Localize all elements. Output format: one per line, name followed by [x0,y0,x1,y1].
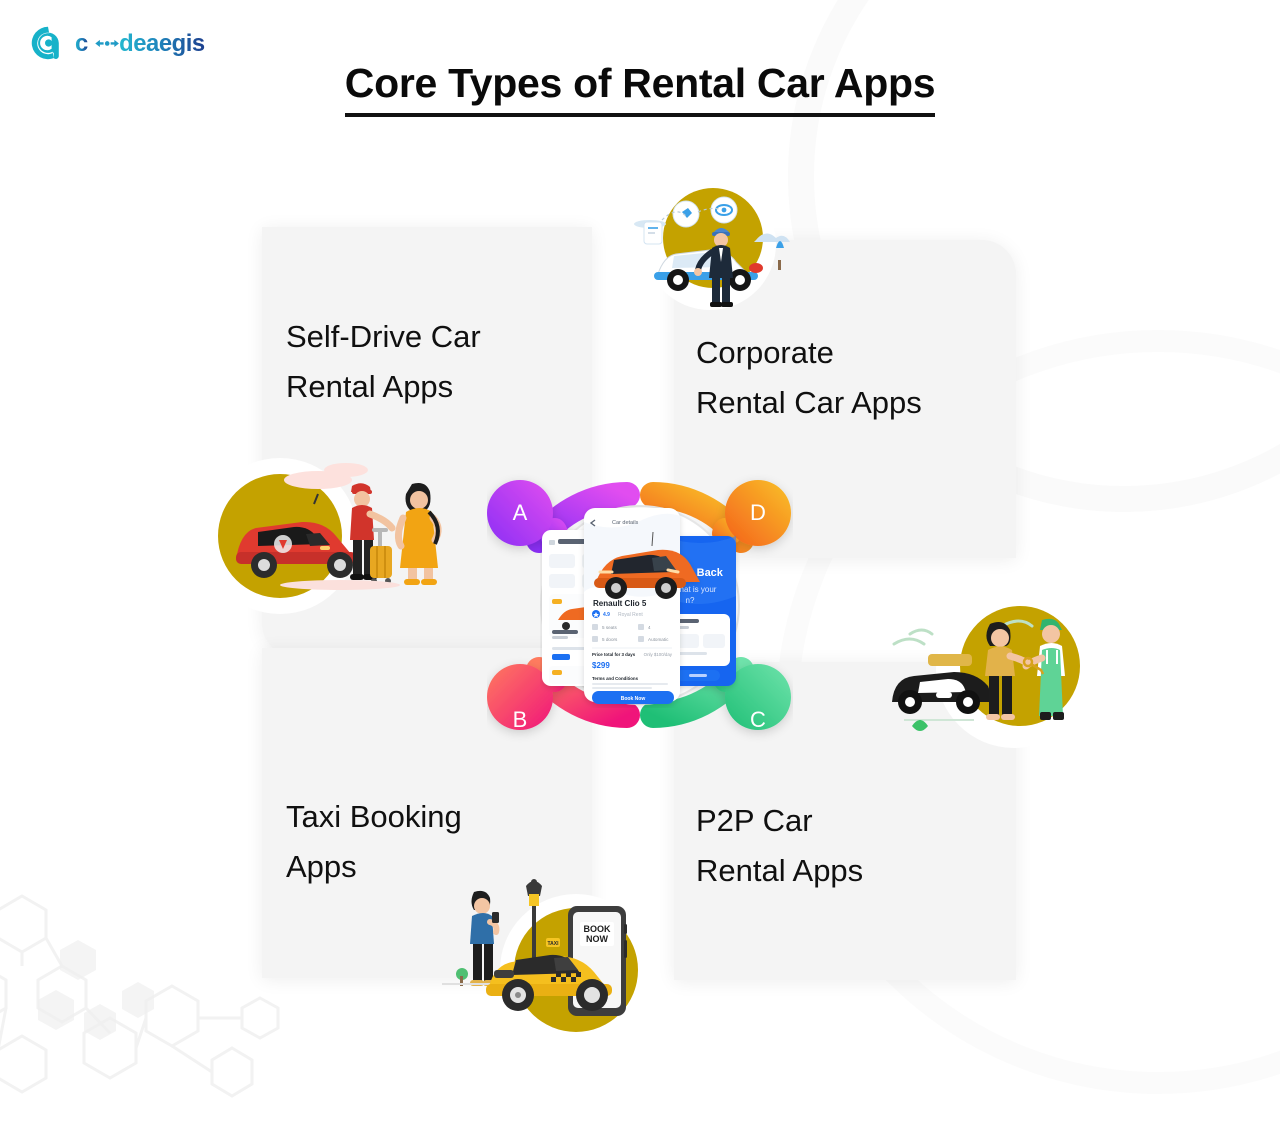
svg-text:4.9: 4.9 [603,612,610,618]
svg-text:5 seats: 5 seats [602,625,618,630]
svg-text:TAXI: TAXI [547,941,559,947]
svg-text:$299: $299 [592,661,610,670]
codeaegis-logo-mark-icon [30,25,66,61]
hub-badge-c[interactable]: C [741,703,775,737]
svg-text:Car details: Car details [612,520,639,526]
taxi-booking-phone-illustration: BOOK NOW TAXI [442,862,664,1042]
self-drive-car-handover-illustration [200,448,450,628]
hub-badge-d[interactable]: D [741,496,775,530]
corporate-chauffeur-illustration [628,182,806,310]
hub-badge-b[interactable]: B [503,703,537,737]
svg-text:c: c [75,30,88,57]
svg-text:Price total for 3 days: Price total for 3 days [592,652,636,657]
card-title-self-drive: Self-Drive Car Rental Apps [286,312,481,411]
hub-badge-a[interactable]: A [503,496,537,530]
brand-logo[interactable]: c deaegis [30,25,216,61]
brand-wordmark: c deaegis [75,28,216,58]
svg-text:Automatic: Automatic [648,637,669,642]
svg-text:n?: n? [686,596,695,605]
svg-text:NOW: NOW [586,934,609,944]
svg-text:BOOK: BOOK [584,924,612,934]
svg-text:Terms and Conditions: Terms and Conditions [592,676,639,681]
p2p-car-key-exchange-illustration [876,598,1092,750]
app-mockup-stack: om Back hat is your n? Car details [540,502,740,708]
page-title: Core Types of Rental Car Apps [0,60,1280,117]
mockup-car-name: Renault Clio 5 [593,599,647,608]
center-hub: A D B C [487,452,793,758]
svg-text:Royal Rent: Royal Rent [618,612,643,618]
svg-text:deaegis: deaegis [119,30,205,57]
svg-text:Book Now: Book Now [621,696,646,702]
page-title-text: Core Types of Rental Car Apps [345,60,935,117]
svg-text:5 doors: 5 doors [602,637,618,642]
svg-text:4: 4 [648,625,651,630]
svg-text:Only $100/day: Only $100/day [644,652,673,657]
card-title-p2p: P2P Car Rental Apps [696,796,863,895]
card-title-corporate: Corporate Rental Car Apps [696,328,922,427]
svg-text:hat is your: hat is your [680,585,717,594]
card-title-taxi-booking: Taxi Booking Apps [286,792,462,891]
